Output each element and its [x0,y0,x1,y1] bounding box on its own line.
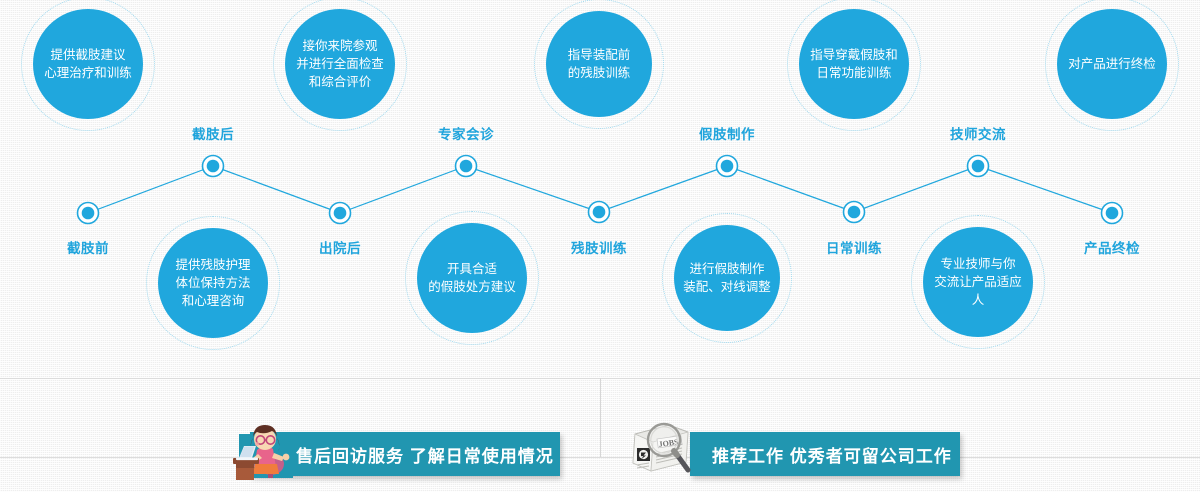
flow-edge [599,166,727,212]
section-divider-vertical [600,378,601,457]
flow-node-n1[interactable] [78,203,99,224]
bubble-text: 对产品进行终检 [1060,55,1164,73]
node-core [972,160,985,173]
bubble-text: 接你来院参观 并进行全面检查 和综合评价 [288,37,392,91]
jobs-caption: JOBS [658,437,680,449]
flow-node-n5[interactable] [589,202,610,223]
flow-node-n9[interactable] [1102,203,1123,224]
info-bubble-b9[interactable]: 专业技师与你 交流让产品适应人 [923,227,1033,337]
section-divider-middle [0,457,1200,458]
node-core [721,160,734,173]
info-bubble-b1[interactable]: 提供截肢建议 心理治疗和训练 [33,9,143,119]
bubble-text: 指导装配前 的残肢训练 [560,46,639,82]
flow-node-n6[interactable] [717,156,738,177]
banner-after-sales[interactable]: 售后回访服务 了解日常使用情况 [250,432,560,476]
node-label-n5: 残肢训练 [571,237,627,257]
info-bubble-b7[interactable]: 开具合适 的假肢处方建议 [417,223,527,333]
flow-edge [340,166,466,213]
flow-node-n8[interactable] [968,156,989,177]
info-bubble-b8[interactable]: 进行假肢制作 装配、对线调整 [674,225,780,331]
node-label-n8: 技师交流 [950,123,1006,143]
banner-art-job-referral: JOBS [632,418,694,481]
node-label-n1: 截肢前 [67,237,109,257]
banner-job-referral[interactable]: 推荐工作 优秀者可留公司工作 [690,432,960,476]
info-bubble-b4[interactable]: 指导穿戴假肢和 日常功能训练 [799,9,909,119]
bubble-text: 进行假肢制作 装配、对线调整 [675,260,779,296]
jobs-magnifier-icon: JOBS [632,418,694,476]
flow-diagram-stage: 截肢前截肢后出院后专家会诊残肢训练假肢制作日常训练技师交流产品终检提供截肢建议 … [0,0,1200,492]
node-label-n7: 日常训练 [826,237,882,257]
flow-node-n2[interactable] [203,156,224,177]
info-bubble-b6[interactable]: 提供残肢护理 体位保持方法 和心理咨询 [158,228,268,338]
info-bubble-b3[interactable]: 指导装配前 的残肢训练 [546,11,652,117]
info-bubble-b5[interactable]: 对产品进行终检 [1057,9,1167,119]
banner-label-after-sales: 售后回访服务 了解日常使用情况 [296,442,554,467]
node-core [593,206,606,219]
flow-edge [466,166,599,212]
node-label-n4: 专家会诊 [438,123,494,143]
flow-edge [88,166,213,213]
node-label-n6: 假肢制作 [699,123,755,143]
node-label-n3: 出院后 [319,237,361,257]
flow-node-n4[interactable] [456,156,477,177]
node-core [334,207,347,220]
node-label-n2: 截肢后 [192,123,234,143]
node-core [82,207,95,220]
bubble-text: 提供截肢建议 心理治疗和训练 [36,46,140,82]
flow-node-n3[interactable] [330,203,351,224]
flow-node-n7[interactable] [844,202,865,223]
node-core [1106,207,1119,220]
node-core [460,160,473,173]
node-core [207,160,220,173]
bubble-text: 开具合适 的假肢处方建议 [420,260,524,296]
flow-edge [854,166,978,212]
banner-label-job-referral: 推荐工作 优秀者可留公司工作 [712,442,952,467]
bubble-text: 提供残肢护理 体位保持方法 和心理咨询 [167,256,258,310]
bubble-text: 专业技师与你 交流让产品适应人 [923,255,1033,309]
bubble-text: 指导穿戴假肢和 日常功能训练 [802,46,906,82]
node-core [848,206,861,219]
flow-edge [727,166,854,212]
node-label-n9: 产品终检 [1084,237,1140,257]
flow-edge [213,166,340,213]
flow-edge [978,166,1112,213]
info-bubble-b2[interactable]: 接你来院参观 并进行全面检查 和综合评价 [285,9,395,119]
